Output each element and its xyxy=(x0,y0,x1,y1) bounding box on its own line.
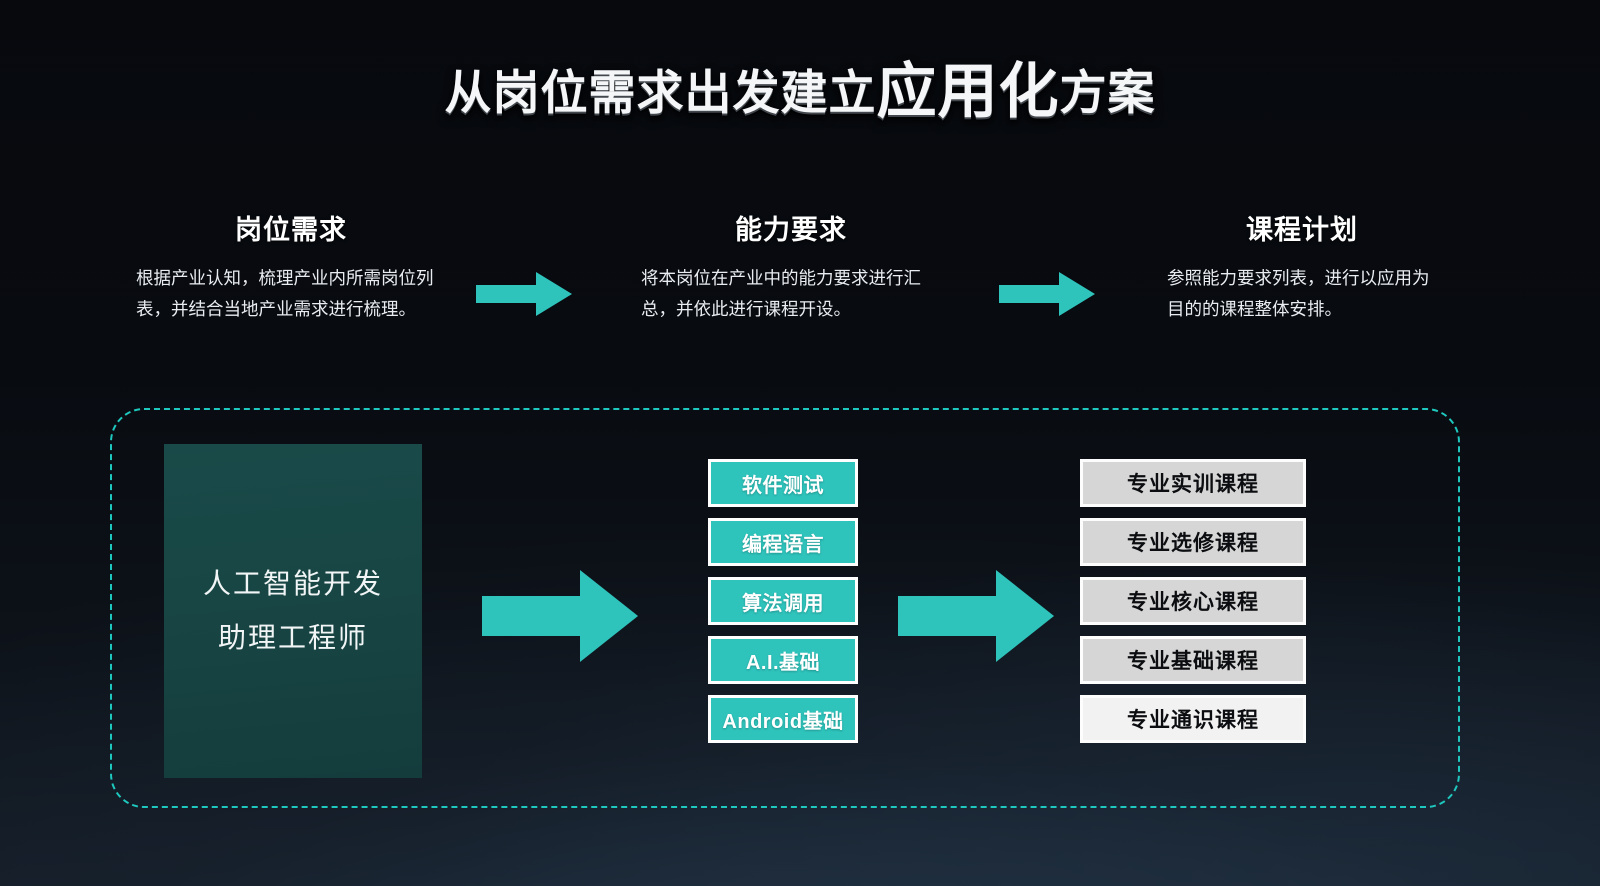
arrow-right-icon xyxy=(476,272,572,316)
step-body: 参照能力要求列表，进行以应用为目的的课程整体安排。 xyxy=(1167,263,1437,324)
course-tag[interactable]: 专业选修课程 xyxy=(1080,518,1306,566)
skill-tag[interactable]: Android基础 xyxy=(708,695,858,743)
skill-tag[interactable]: 算法调用 xyxy=(708,577,858,625)
skill-tag[interactable]: 软件测试 xyxy=(708,459,858,507)
course-tag[interactable]: 专业基础课程 xyxy=(1080,636,1306,684)
role-line-1: 人工智能开发 xyxy=(203,570,383,598)
skill-tag-list: 软件测试 编程语言 算法调用 A.I.基础 Android基础 xyxy=(708,459,858,743)
slide-root: 从岗位需求出发建立应用化方案 岗位需求 根据产业认知，梳理产业内所需岗位列表，并… xyxy=(0,0,1600,886)
step-ability-requirement: 能力要求 将本岗位在产业中的能力要求进行汇总，并依此进行课程开设。 xyxy=(641,208,941,324)
arrow-right-icon xyxy=(898,570,1054,662)
step-body: 根据产业认知，梳理产业内所需岗位列表，并结合当地产业需求进行梳理。 xyxy=(136,263,446,324)
step-job-demand: 岗位需求 根据产业认知，梳理产业内所需岗位列表，并结合当地产业需求进行梳理。 xyxy=(136,208,446,324)
role-card: 人工智能开发 助理工程师 xyxy=(164,444,422,778)
role-line-2: 助理工程师 xyxy=(218,624,368,652)
course-tag-list: 专业实训课程 专业选修课程 专业核心课程 专业基础课程 专业通识课程 xyxy=(1080,459,1306,743)
page-title-part-c: 方案 xyxy=(1060,69,1156,116)
step-course-plan: 课程计划 参照能力要求列表，进行以应用为目的的课程整体安排。 xyxy=(1167,208,1437,324)
skill-tag[interactable]: A.I.基础 xyxy=(708,636,858,684)
page-title-part-b: 应用化 xyxy=(877,62,1060,122)
page-title-part-a: 从岗位需求出发建立 xyxy=(445,69,877,116)
steps-row: 岗位需求 根据产业认知，梳理产业内所需岗位列表，并结合当地产业需求进行梳理。 能… xyxy=(0,208,1600,378)
step-title: 岗位需求 xyxy=(136,208,446,247)
course-tag[interactable]: 专业核心课程 xyxy=(1080,577,1306,625)
course-tag[interactable]: 专业实训课程 xyxy=(1080,459,1306,507)
step-title: 课程计划 xyxy=(1167,208,1437,247)
course-tag[interactable]: 专业通识课程 xyxy=(1080,695,1306,743)
skill-tag[interactable]: 编程语言 xyxy=(708,518,858,566)
step-body: 将本岗位在产业中的能力要求进行汇总，并依此进行课程开设。 xyxy=(641,263,941,324)
arrow-right-icon xyxy=(482,570,638,662)
page-title: 从岗位需求出发建立应用化方案 xyxy=(0,62,1600,122)
arrow-right-icon xyxy=(999,272,1095,316)
step-title: 能力要求 xyxy=(641,208,941,247)
